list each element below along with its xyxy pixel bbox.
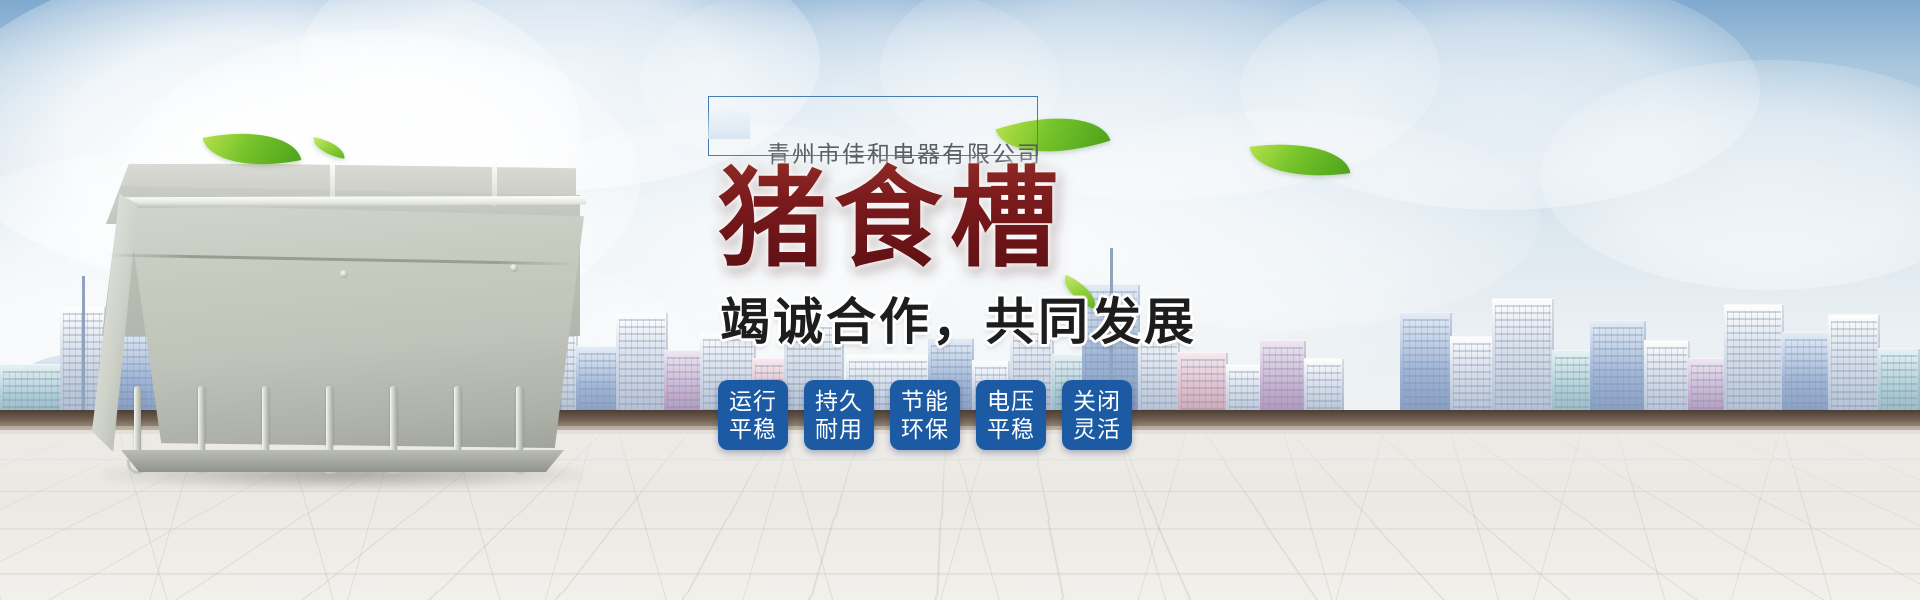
feature-badge[interactable]: 关闭 灵活 (1062, 380, 1132, 450)
badge-line-1: 运行 (729, 387, 777, 415)
feature-badge[interactable]: 持久 耐用 (804, 380, 874, 450)
badge-line-2: 灵活 (1073, 415, 1121, 443)
badge-line-2: 耐用 (815, 415, 863, 443)
badge-line-1: 持久 (815, 387, 863, 415)
trough-base (112, 450, 564, 472)
product-image (72, 150, 592, 480)
badge-line-1: 节能 (901, 387, 949, 415)
cloud (1540, 60, 1920, 290)
page-title: 猪食槽 (718, 162, 1320, 276)
badge-line-2: 平稳 (987, 415, 1035, 443)
badge-line-1: 电压 (987, 387, 1035, 415)
badge-line-1: 关闭 (1073, 387, 1121, 415)
feature-badge[interactable]: 电压 平稳 (976, 380, 1046, 450)
bolt-icon (510, 264, 518, 272)
frame-notch (708, 109, 750, 139)
banner-copy: 青州市佳和电器有限公司 猪食槽 竭诚合作，共同发展 运行 平稳 持久 耐用 节能… (700, 96, 1320, 450)
feature-badge-list: 运行 平稳 持久 耐用 节能 环保 电压 平稳 关闭 灵活 (718, 380, 1320, 450)
bolt-icon (340, 270, 348, 278)
feature-badge[interactable]: 运行 平稳 (718, 380, 788, 450)
promo-banner: 青州市佳和电器有限公司 猪食槽 竭诚合作，共同发展 运行 平稳 持久 耐用 节能… (0, 0, 1920, 600)
company-name-frame: 青州市佳和电器有限公司 (708, 96, 1038, 156)
badge-line-2: 环保 (901, 415, 949, 443)
badge-line-2: 平稳 (729, 415, 777, 443)
page-subtitle: 竭诚合作，共同发展 (720, 282, 1320, 354)
feature-badge[interactable]: 节能 环保 (890, 380, 960, 450)
